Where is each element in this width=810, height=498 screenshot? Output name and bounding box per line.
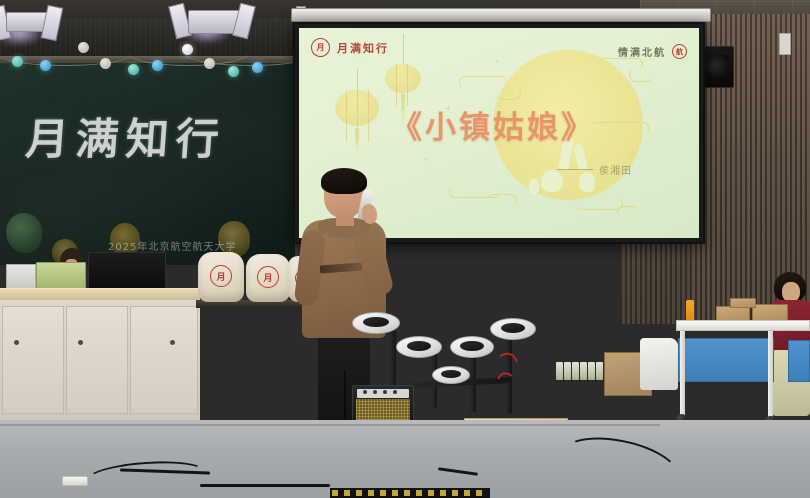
wall-speaker [700, 46, 734, 88]
drum-pad-kick [432, 366, 470, 384]
beverage-bottle [686, 300, 694, 321]
cloud-motif [495, 84, 521, 100]
slide-brand-right: 情满北航 [618, 44, 666, 59]
blackboard-headline: 月满知行 [24, 105, 228, 167]
credit-dash [557, 169, 593, 170]
stage-edge-marker [330, 488, 490, 498]
projector-screen-housing [291, 8, 711, 22]
table-modesty-panel [678, 338, 774, 382]
slide-credit: 侯湘田 [557, 162, 632, 177]
string-light-bulb [100, 58, 111, 69]
table-leg [768, 331, 773, 419]
table-leg [680, 331, 685, 419]
slide-title: 《小镇姑娘》 [391, 102, 595, 147]
white-bag [640, 338, 678, 390]
cushion-1: 月 [198, 252, 244, 302]
slide-logo-right: 情满北航 航 [618, 44, 687, 59]
lantern-graphic [385, 64, 421, 106]
drum-pad-crash [490, 318, 536, 340]
blackboard-subline: 2025年北京航空航天大学 [108, 238, 236, 253]
string-light-bulb [40, 60, 51, 71]
cabinet-knob[interactable] [14, 340, 19, 345]
cabinet-knob[interactable] [170, 340, 175, 345]
cloud-motif [487, 194, 517, 208]
sparkle-plus: + [629, 148, 635, 159]
screenshot-root: 月满知行 2025年北京航空航天大学 [0, 0, 810, 498]
string-light-bulb [182, 44, 193, 55]
string-light-bulb [204, 58, 215, 69]
desktop-monitor [88, 252, 166, 292]
slide-credit-name: 侯湘田 [599, 162, 632, 177]
sparkle-plus: + [495, 58, 500, 66]
string-light-bulb [12, 56, 23, 67]
lantern-graphic [335, 90, 379, 142]
drum-pad-tom [450, 336, 494, 358]
seal-icon-small: 航 [672, 44, 687, 59]
sparkle-plus: + [423, 156, 428, 164]
drum-pad-snare [396, 336, 442, 358]
cabinet-door[interactable] [66, 306, 128, 414]
beverage-cans [556, 362, 602, 380]
slide-logo-left: 月 月满知行 [311, 38, 389, 57]
slide-brand-left: 月满知行 [337, 40, 389, 56]
presenter-hair [321, 168, 367, 194]
red-cable [492, 370, 524, 414]
string-light-bulb [152, 60, 163, 71]
cabinet-door[interactable] [130, 306, 198, 414]
floor-wall-joint [0, 424, 660, 426]
string-light-bulb [128, 64, 139, 75]
cloud-motif [575, 198, 623, 210]
string-light-bulb [78, 42, 89, 53]
folding-table-top [676, 320, 810, 331]
power-strip[interactable] [62, 476, 88, 486]
rabbit-silhouette [529, 178, 539, 194]
cloud-motif [591, 122, 649, 134]
chalk-decoration [6, 213, 42, 253]
cushion-2: 月 [246, 254, 290, 302]
string-light-bulb [228, 66, 239, 77]
table-modesty-panel [788, 340, 810, 382]
wall-switch-plate [779, 33, 791, 55]
floor-cable [200, 484, 330, 487]
cushion-logo: 月 [210, 265, 232, 287]
cabinet-knob[interactable] [78, 340, 83, 345]
cloud-motif [617, 206, 639, 218]
podium-countertop [0, 288, 200, 300]
cardboard-box-table [730, 298, 756, 308]
seal-icon: 月 [311, 38, 330, 57]
cushion-logo: 月 [257, 266, 279, 288]
drum-pad-hihat [352, 312, 400, 334]
cloud-motif [629, 68, 653, 82]
cabinet-door[interactable] [2, 306, 64, 414]
string-light-bulb [252, 62, 263, 73]
